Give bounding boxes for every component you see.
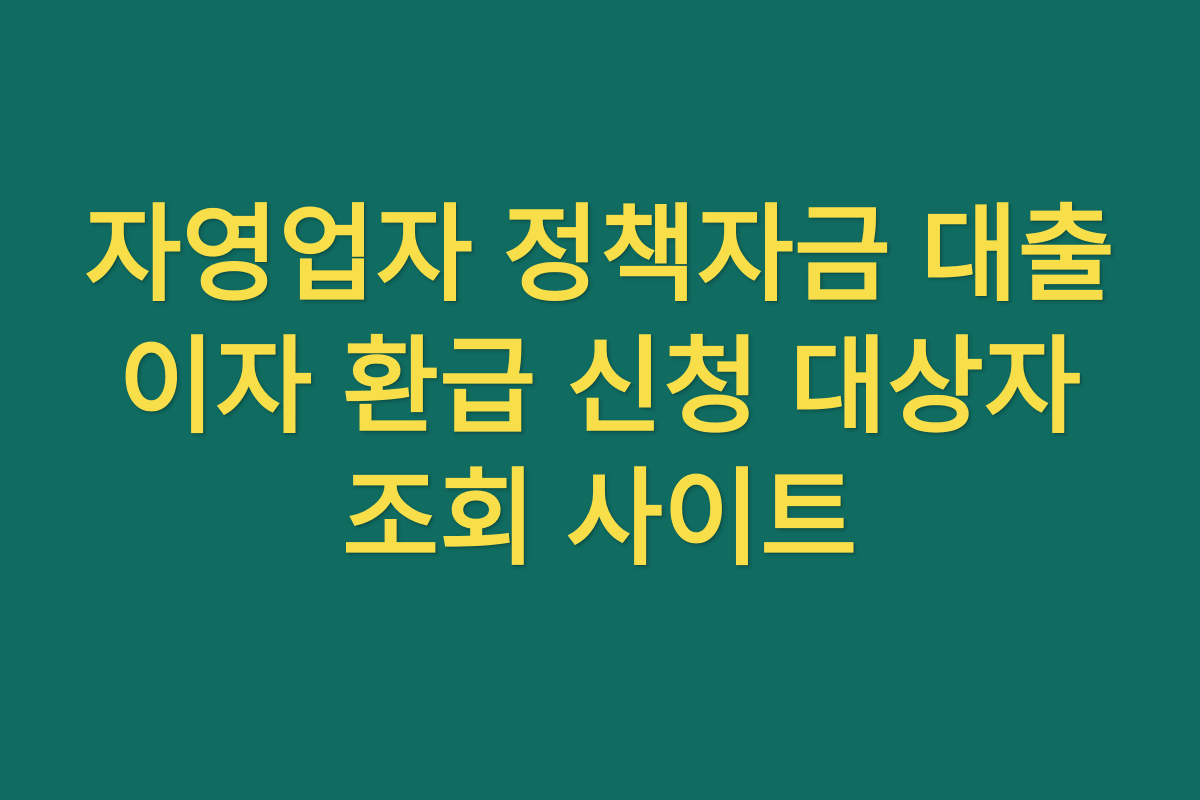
headline-line-3: 조회 사이트 xyxy=(40,454,1160,586)
banner-canvas: 자영업자 정책자금 대출 이자 환급 신청 대상자 조회 사이트 xyxy=(0,0,1200,800)
headline-line-1: 자영업자 정책자금 대출 xyxy=(40,190,1160,322)
page-title: 자영업자 정책자금 대출 이자 환급 신청 대상자 조회 사이트 xyxy=(40,190,1160,586)
headline-line-2: 이자 환급 신청 대상자 xyxy=(40,322,1160,454)
